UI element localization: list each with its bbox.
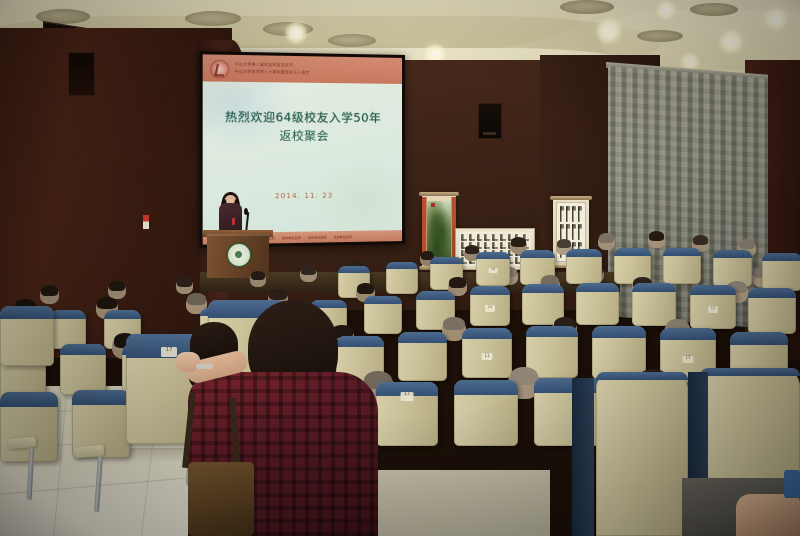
seat-armrest-group	[68, 398, 128, 468]
auditorium-seat[interactable]	[663, 248, 701, 284]
audience-person	[300, 266, 317, 282]
ceiling-downlight-core	[605, 26, 613, 32]
wall-vent-panel	[68, 52, 95, 96]
wristwatch-icon	[196, 364, 213, 369]
auditorium-seat[interactable]: 13	[470, 286, 510, 326]
microphone-icon	[244, 208, 248, 215]
slide-header-line-2: 中山大学医学院八十周年暨校庆五十周年	[235, 69, 310, 75]
ceiling-downlight-core	[293, 29, 300, 34]
slide-header-line-1: 中山大学第八届校友科技文化节	[235, 62, 294, 68]
audience-person	[40, 286, 59, 304]
ceiling-oval-vent	[637, 30, 683, 42]
seat-armrest-group	[0, 392, 60, 462]
presenter-badge	[232, 218, 235, 225]
auditorium-seat[interactable]	[596, 372, 688, 536]
auditorium-photo-scene: 中山大学第八届校友科技文化节 中山大学医学院八十周年暨校庆五十周年 热烈欢迎64…	[0, 0, 800, 536]
seat-fabric-detail	[784, 470, 800, 498]
auditorium-seat[interactable]: 17	[690, 285, 736, 329]
auditorium-seat[interactable]: 14	[476, 252, 510, 286]
foreground-person-hand	[736, 494, 800, 536]
ceiling-oval-vent	[185, 11, 241, 26]
ceiling-oval-vent	[328, 34, 376, 47]
audience-person	[598, 234, 615, 250]
slide-footer-item: 承办单位名称	[282, 235, 301, 239]
auditorium-seat[interactable]	[566, 249, 602, 284]
university-seal-emblem	[227, 243, 251, 267]
slide-footer-item: 协办单位名称	[308, 235, 327, 239]
audience-person	[250, 272, 266, 287]
auditorium-seat[interactable]	[576, 283, 619, 325]
shoulder-bag	[188, 462, 254, 536]
auditorium-seat[interactable]	[454, 380, 518, 446]
slide-title-line-1: 热烈欢迎64级校友入学50年	[203, 108, 402, 126]
ceiling-oval-vent	[560, 0, 614, 14]
wall-mounted-loudspeaker	[478, 103, 502, 139]
foreground-person-hand	[176, 352, 200, 372]
wall-fire-alarm-indicator	[143, 215, 149, 229]
auditorium-seat[interactable]	[0, 306, 54, 366]
scroll-rod-top	[419, 192, 459, 196]
auditorium-seat[interactable]	[762, 253, 800, 291]
auditorium-seat[interactable]	[748, 288, 796, 334]
ceiling-downlight	[655, 0, 677, 20]
slide-footer-item: 支持单位名称	[334, 234, 352, 238]
artist-seal-icon	[431, 203, 435, 207]
audience-person	[176, 278, 193, 294]
ceiling-downlight-core	[432, 51, 439, 56]
university-crest-icon	[210, 60, 229, 79]
slide-title-line-2: 返校聚会	[203, 127, 402, 144]
auditorium-seat[interactable]: 11	[462, 328, 512, 378]
seat-side-panel	[572, 378, 594, 536]
auditorium-seat[interactable]	[60, 344, 106, 395]
slide-header-banner: 中山大学第八届校友科技文化节 中山大学医学院八十周年暨校庆五十周年	[203, 54, 402, 84]
auditorium-seat[interactable]: 17	[376, 382, 438, 446]
auditorium-seat[interactable]	[386, 262, 418, 294]
auditorium-seat[interactable]	[398, 332, 447, 381]
ceiling-oval-vent	[690, 3, 738, 16]
auditorium-seat[interactable]	[364, 296, 402, 334]
scroll-rod-top	[550, 196, 592, 200]
audience-person	[648, 232, 665, 248]
ceiling-downlight-core	[727, 38, 735, 44]
ceiling-downlight-core	[772, 15, 780, 21]
